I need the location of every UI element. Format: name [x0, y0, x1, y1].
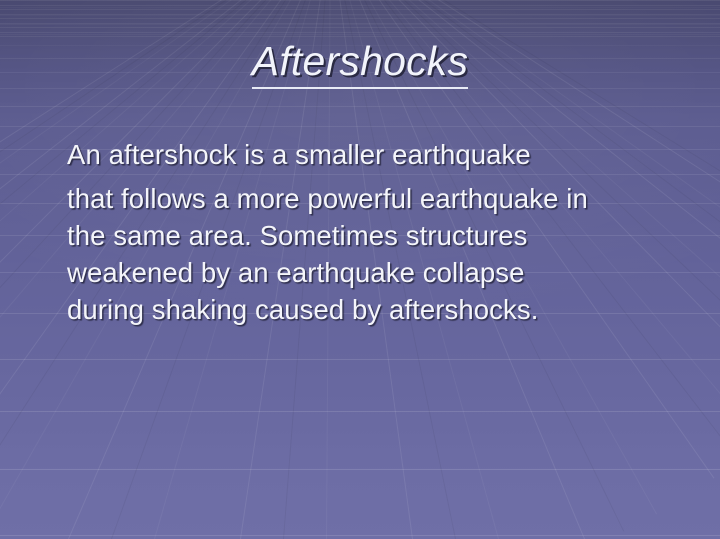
slide-title: Aftershocks: [0, 38, 720, 85]
body-line-5: during shaking caused by aftershocks.: [67, 291, 707, 328]
presentation-slide: Aftershocks An aftershock is a smaller e…: [0, 0, 720, 539]
slide-title-text: Aftershocks: [252, 38, 468, 89]
body-line-1: An aftershock is a smaller earthquake: [67, 136, 707, 173]
body-line-4: weakened by an earthquake collapse: [67, 254, 707, 291]
slide-content: Aftershocks An aftershock is a smaller e…: [0, 0, 720, 539]
body-line-3: the same area. Sometimes structures: [67, 217, 707, 254]
slide-body: An aftershock is a smaller earthquake th…: [67, 136, 707, 328]
body-line-2: that follows a more powerful earthquake …: [67, 180, 707, 217]
